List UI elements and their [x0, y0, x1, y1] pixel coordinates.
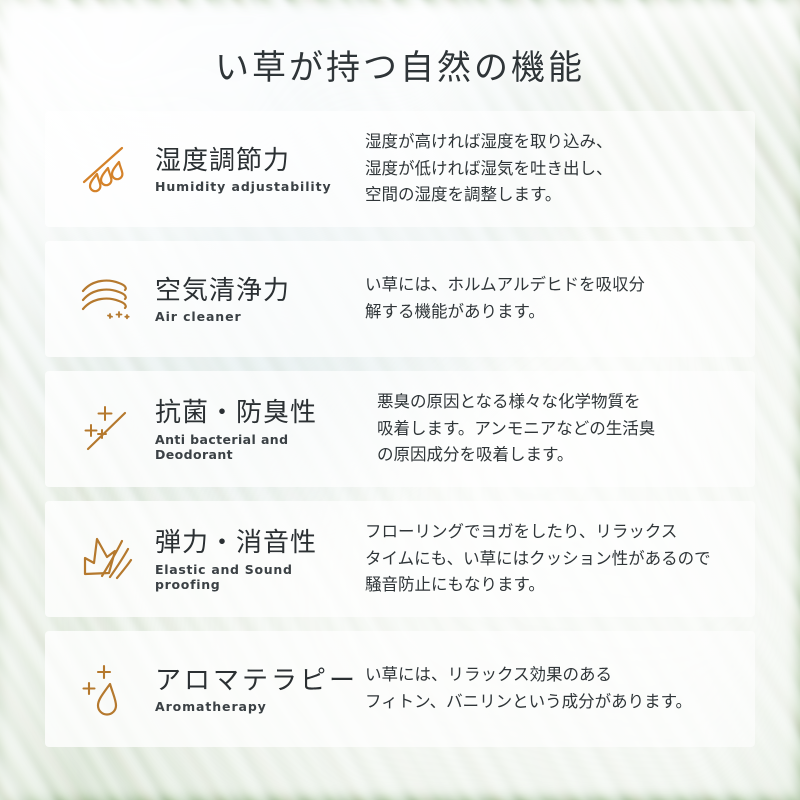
- feature-heading-block: アロマテラピー Aromatherapy: [59, 653, 359, 725]
- sparkle-wand-icon: [71, 393, 143, 465]
- feature-card-air-cleaner[interactable]: 空気清浄力 Air cleaner い草には、ホルムアルデヒドを吸収分 解する機…: [45, 241, 755, 357]
- feature-title-jp: 弾力・消音性: [155, 526, 359, 559]
- description-line: い草には、ホルムアルデヒドを吸収分: [365, 272, 735, 299]
- feature-title-jp: 空気清浄力: [155, 274, 290, 307]
- feature-title-en: Air cleaner: [155, 309, 290, 324]
- description-line: 湿度が高ければ湿度を取り込み、: [365, 129, 735, 156]
- bounce-cushion-icon: [71, 523, 143, 595]
- feature-title-en: Aromatherapy: [155, 699, 358, 714]
- feature-titles: 弾力・消音性 Elastic and Sound proofing: [143, 526, 359, 592]
- feature-description: い草には、ホルムアルデヒドを吸収分 解する機能があります。: [359, 272, 741, 325]
- description-line: 騒音防止にもなります。: [365, 572, 735, 599]
- description-line: い草には、リラックス効果のある: [365, 662, 735, 689]
- feature-title-en: Anti bacterial and Deodorant: [155, 432, 371, 462]
- feature-heading-block: 弾力・消音性 Elastic and Sound proofing: [59, 523, 359, 595]
- feature-description: フローリングでヨガをしたり、リラックス タイムにも、い草にはクッション性があるの…: [359, 519, 741, 599]
- description-line: の原因成分を吸着します。: [377, 442, 735, 469]
- humidity-droplets-icon: [71, 133, 143, 205]
- feature-titles: アロマテラピー Aromatherapy: [143, 664, 358, 715]
- feature-heading-block: 抗菌・防臭性 Anti bacterial and Deodorant: [59, 393, 371, 465]
- description-line: フローリングでヨガをしたり、リラックス: [365, 519, 735, 546]
- description-line: 吸着します。アンモニアなどの生活臭: [377, 416, 735, 443]
- feature-title-en: Humidity adjustability: [155, 179, 332, 194]
- description-line: フィトン、バニリンという成分があります。: [365, 689, 735, 716]
- description-line: 湿度が低ければ湿気を吐き出し、: [365, 156, 735, 183]
- feature-titles: 空気清浄力 Air cleaner: [143, 274, 290, 325]
- description-line: タイムにも、い草にはクッション性があるので: [365, 546, 735, 573]
- feature-list: 湿度調節力 Humidity adjustability 湿度が高ければ湿度を取…: [0, 111, 800, 747]
- feature-description: 悪臭の原因となる様々な化学物質を 吸着します。アンモニアなどの生活臭 の原因成分…: [371, 389, 741, 469]
- feature-title-jp: 湿度調節力: [155, 144, 332, 177]
- feature-card-aromatherapy[interactable]: アロマテラピー Aromatherapy い草には、リラックス効果のある フィト…: [45, 631, 755, 747]
- description-line: 悪臭の原因となる様々な化学物質を: [377, 389, 735, 416]
- feature-title-jp: アロマテラピー: [155, 664, 358, 697]
- feature-titles: 湿度調節力 Humidity adjustability: [143, 144, 332, 195]
- feature-card-humidity[interactable]: 湿度調節力 Humidity adjustability 湿度が高ければ湿度を取…: [45, 111, 755, 227]
- page-title: い草が持つ自然の機能: [0, 0, 800, 89]
- feature-title-jp: 抗菌・防臭性: [155, 396, 371, 429]
- feature-heading-block: 空気清浄力 Air cleaner: [59, 263, 359, 335]
- feature-card-elastic-soundproofing[interactable]: 弾力・消音性 Elastic and Sound proofing フローリング…: [45, 501, 755, 617]
- feature-title-en: Elastic and Sound proofing: [155, 562, 359, 592]
- feature-heading-block: 湿度調節力 Humidity adjustability: [59, 133, 359, 205]
- aroma-droplet-icon: [71, 653, 143, 725]
- feature-description: 湿度が高ければ湿度を取り込み、 湿度が低ければ湿気を吐き出し、 空間の湿度を調整…: [359, 129, 741, 209]
- feature-card-anti-bacterial[interactable]: 抗菌・防臭性 Anti bacterial and Deodorant 悪臭の原…: [45, 371, 755, 487]
- feature-titles: 抗菌・防臭性 Anti bacterial and Deodorant: [143, 396, 371, 462]
- description-line: 解する機能があります。: [365, 299, 735, 326]
- description-line: 空間の湿度を調整します。: [365, 182, 735, 209]
- air-waves-icon: [71, 263, 143, 335]
- feature-description: い草には、リラックス効果のある フィトン、バニリンという成分があります。: [359, 662, 741, 715]
